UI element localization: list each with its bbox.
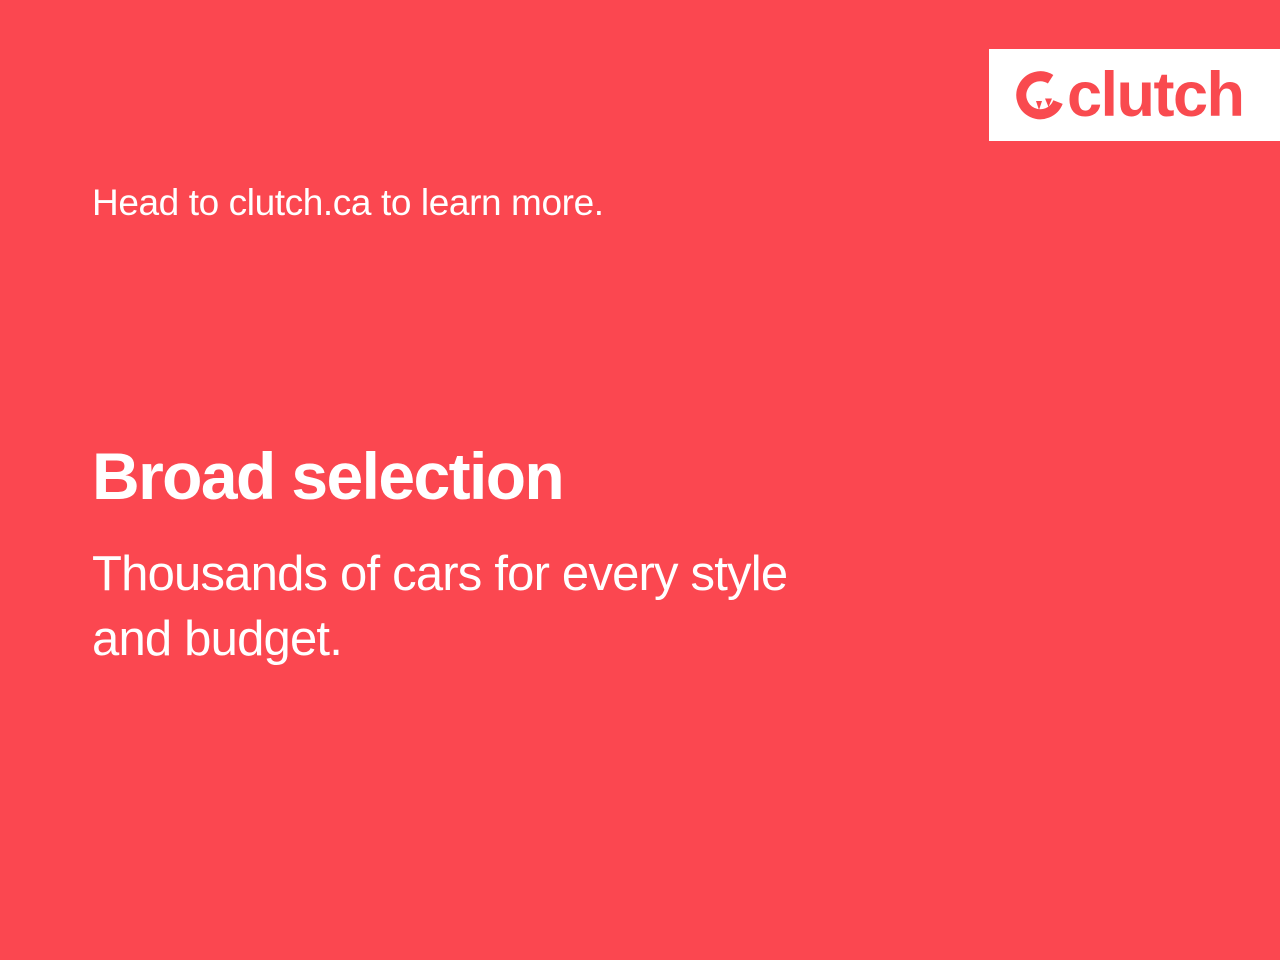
subhead-line-2: and budget. [92, 607, 1052, 672]
subhead-text: Thousands of cars for every style and bu… [92, 542, 1052, 672]
brand-logo-badge[interactable]: clutch [989, 49, 1280, 141]
subhead-line-1: Thousands of cars for every style [92, 542, 1052, 607]
eyebrow-text: Head to clutch.ca to learn more. [92, 180, 604, 226]
clutch-logo-lockup: clutch [1016, 64, 1244, 127]
ad-slide: clutch Head to clutch.ca to learn more. … [0, 0, 1280, 960]
page-title: Broad selection [92, 440, 563, 513]
clutch-c-mark-icon [1016, 70, 1066, 120]
clutch-wordmark: clutch [1067, 64, 1244, 127]
